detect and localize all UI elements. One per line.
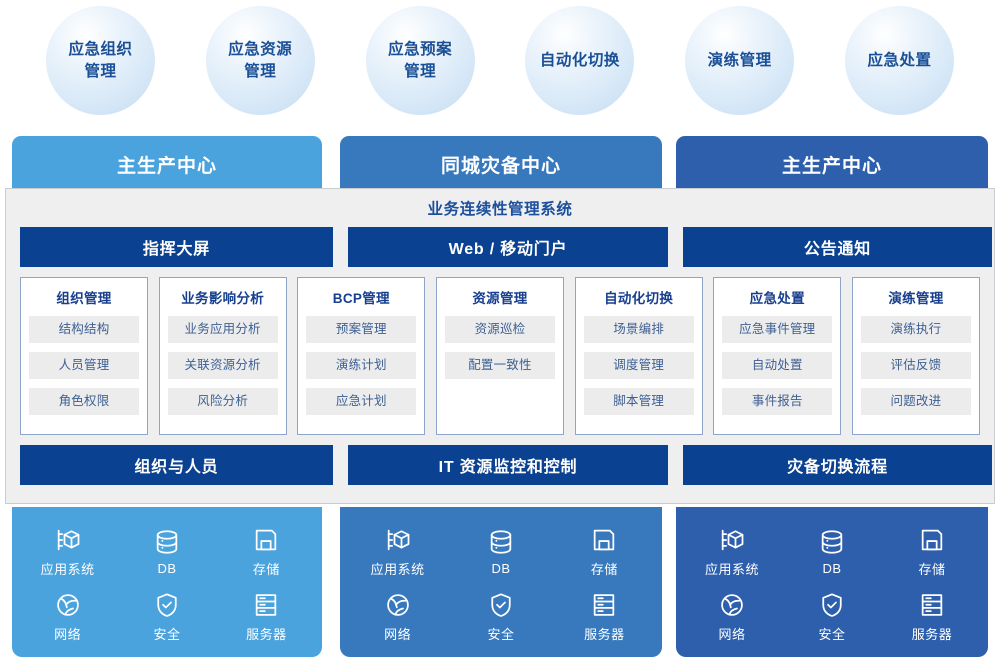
infra-item-database[interactable]: DB	[117, 526, 216, 578]
module-item[interactable]: 配置一致性	[445, 352, 555, 379]
module-item[interactable]: 角色权限	[29, 388, 139, 415]
module-card-title: 应急处置	[722, 287, 832, 307]
infra-item-label: 安全	[818, 624, 845, 643]
module-item[interactable]: 关联资源分析	[168, 352, 278, 379]
infra-item-label: 网络	[718, 624, 745, 643]
module-item[interactable]: 资源巡检	[445, 316, 555, 343]
module-card-title: BCP管理	[306, 287, 416, 307]
capability-bubble-label: 应急资源管理	[228, 39, 292, 82]
infra-item-application-system[interactable]: 应用系统	[346, 526, 449, 578]
capability-bar-label: 组织与人员	[134, 453, 218, 477]
module-card-org-management[interactable]: 组织管理 结构结构 人员管理 角色权限	[20, 277, 148, 435]
site-header-row: 主生产中心 同城灾备中心 主生产中心	[0, 136, 1000, 192]
site-header-label: 同城灾备中心	[441, 151, 561, 178]
infra-item-application-system[interactable]: 应用系统	[682, 526, 782, 578]
infra-item-label: 应用系统	[371, 559, 425, 578]
access-bar-label: 公告通知	[804, 235, 871, 259]
infrastructure-row: 应用系统 DB 存储 网络 安全 服务器 应用系统 DB	[0, 507, 1000, 657]
infra-item-storage[interactable]: 存储	[882, 526, 982, 578]
module-item[interactable]: 应急计划	[306, 388, 416, 415]
database-icon	[818, 528, 846, 556]
server-rack-icon	[918, 591, 946, 619]
security-shield-icon	[153, 591, 181, 619]
module-card-title: 资源管理	[445, 287, 555, 307]
capability-bar-label: 灾备切换流程	[787, 453, 888, 477]
infra-item-security[interactable]: 安全	[782, 591, 882, 643]
module-item[interactable]: 问题改进	[861, 388, 971, 415]
module-item[interactable]: 脚本管理	[584, 388, 694, 415]
capability-bubble-row: 应急组织管理 应急资源管理 应急预案管理 自动化切换 演练管理 应急处置	[0, 6, 1000, 124]
module-item[interactable]: 演练执行	[861, 316, 971, 343]
access-bar-command-screen[interactable]: 指挥大屏	[20, 227, 333, 267]
site-header-primary-production[interactable]: 主生产中心	[12, 136, 322, 192]
module-card-drill-management[interactable]: 演练管理 演练执行 评估反馈 问题改进	[852, 277, 980, 435]
infra-item-label: 服务器	[584, 624, 625, 643]
module-item[interactable]: 业务应用分析	[168, 316, 278, 343]
storage-icon	[590, 526, 618, 554]
module-card-resource-management[interactable]: 资源管理 资源巡检 配置一致性	[436, 277, 564, 435]
module-card-title: 组织管理	[29, 287, 139, 307]
capability-bar-org-and-people[interactable]: 组织与人员	[20, 445, 333, 485]
capability-bubble-label: 应急预案管理	[388, 39, 452, 82]
module-item[interactable]: 结构结构	[29, 316, 139, 343]
infra-item-label: 服务器	[246, 624, 287, 643]
server-rack-icon	[590, 591, 618, 619]
infrastructure-panel-primary-production: 应用系统 DB 存储 网络 安全 服务器	[12, 507, 322, 657]
module-card-title: 演练管理	[861, 287, 971, 307]
access-bar-row: 指挥大屏 Web / 移动门户 公告通知	[13, 227, 987, 267]
infra-item-storage[interactable]: 存储	[217, 526, 316, 578]
infra-item-label: 应用系统	[705, 559, 759, 578]
module-item[interactable]: 事件报告	[722, 388, 832, 415]
infra-item-label: 安全	[153, 624, 180, 643]
capability-bubble-label: 演练管理	[708, 50, 772, 71]
infra-item-application-system[interactable]: 应用系统	[18, 526, 117, 578]
site-header-label: 主生产中心	[117, 151, 217, 178]
module-card-title: 业务影响分析	[168, 287, 278, 307]
capability-bubble[interactable]: 应急预案管理	[366, 6, 475, 115]
capability-bar-row: 组织与人员 IT 资源监控和控制 灾备切换流程	[13, 445, 987, 485]
module-item[interactable]: 人员管理	[29, 352, 139, 379]
capability-bubble[interactable]: 应急处置	[845, 6, 954, 115]
storage-icon	[918, 526, 946, 554]
module-card-title: 自动化切换	[584, 287, 694, 307]
module-item[interactable]: 应急事件管理	[722, 316, 832, 343]
capability-bubble[interactable]: 应急资源管理	[206, 6, 315, 115]
infra-item-label: 安全	[487, 624, 514, 643]
infra-item-network[interactable]: 网络	[18, 591, 117, 643]
infra-item-label: 应用系统	[41, 559, 95, 578]
infra-item-database[interactable]: DB	[449, 526, 552, 578]
infra-item-label: DB	[157, 561, 176, 576]
page-title: 业务连续性管理系统	[6, 189, 994, 227]
site-header-label: 主生产中心	[782, 151, 882, 178]
database-icon	[487, 528, 515, 556]
access-bar-web-mobile-portal[interactable]: Web / 移动门户	[348, 227, 668, 267]
module-item[interactable]: 评估反馈	[861, 352, 971, 379]
infrastructure-panel-metro-dr: 应用系统 DB 存储 网络 安全 服务器	[340, 507, 662, 657]
capability-bar-label: IT 资源监控和控制	[439, 453, 578, 477]
capability-bubble[interactable]: 自动化切换	[525, 6, 634, 115]
module-card-row: 组织管理 结构结构 人员管理 角色权限 业务影响分析 业务应用分析 关联资源分析…	[20, 277, 980, 435]
network-icon	[384, 591, 412, 619]
capability-bubble-label: 应急组织管理	[68, 39, 132, 82]
bcm-system-panel: 业务连续性管理系统 指挥大屏 Web / 移动门户 公告通知 组织管理 结构结构…	[5, 188, 995, 504]
module-card-bcp-management[interactable]: BCP管理 预案管理 演练计划 应急计划	[297, 277, 425, 435]
capability-bubble[interactable]: 演练管理	[685, 6, 794, 115]
infra-item-label: DB	[491, 561, 510, 576]
infra-item-label: 存储	[591, 559, 618, 578]
infra-item-server[interactable]: 服务器	[553, 591, 656, 643]
capability-bar-dr-switch-process[interactable]: 灾备切换流程	[683, 445, 992, 485]
capability-bubble[interactable]: 应急组织管理	[46, 6, 155, 115]
network-icon	[54, 591, 82, 619]
application-system-icon	[718, 526, 746, 554]
module-item[interactable]: 调度管理	[584, 352, 694, 379]
application-system-icon	[54, 526, 82, 554]
application-system-icon	[384, 526, 412, 554]
infra-item-storage[interactable]: 存储	[553, 526, 656, 578]
infra-item-label: 存储	[918, 559, 945, 578]
site-header-remote-production[interactable]: 主生产中心	[676, 136, 988, 192]
storage-icon	[252, 526, 280, 554]
module-card-automated-switchover[interactable]: 自动化切换 场景编排 调度管理 脚本管理	[575, 277, 703, 435]
site-header-metro-dr[interactable]: 同城灾备中心	[340, 136, 662, 192]
infra-item-server[interactable]: 服务器	[882, 591, 982, 643]
network-icon	[718, 591, 746, 619]
infra-item-label: 网络	[384, 624, 411, 643]
infra-item-network[interactable]: 网络	[346, 591, 449, 643]
module-item[interactable]: 场景编排	[584, 316, 694, 343]
security-shield-icon	[487, 591, 515, 619]
infrastructure-panel-remote-production: 应用系统 DB 存储 网络 安全 服务器	[676, 507, 988, 657]
module-item[interactable]: 预案管理	[306, 316, 416, 343]
infra-item-security[interactable]: 安全	[117, 591, 216, 643]
capability-bar-it-resource-monitoring[interactable]: IT 资源监控和控制	[348, 445, 668, 485]
infra-item-security[interactable]: 安全	[449, 591, 552, 643]
server-rack-icon	[252, 591, 280, 619]
database-icon	[153, 528, 181, 556]
access-bar-announcement[interactable]: 公告通知	[683, 227, 992, 267]
infra-item-label: 服务器	[912, 624, 953, 643]
security-shield-icon	[818, 591, 846, 619]
access-bar-label: Web / 移动门户	[449, 235, 568, 259]
infra-item-label: 存储	[253, 559, 280, 578]
module-card-emergency-response[interactable]: 应急处置 应急事件管理 自动处置 事件报告	[713, 277, 841, 435]
module-item[interactable]: 自动处置	[722, 352, 832, 379]
access-bar-label: 指挥大屏	[143, 235, 210, 259]
infra-item-network[interactable]: 网络	[682, 591, 782, 643]
module-item[interactable]: 风险分析	[168, 388, 278, 415]
capability-bubble-label: 自动化切换	[540, 50, 620, 71]
capability-bubble-label: 应急处置	[867, 50, 931, 71]
infra-item-server[interactable]: 服务器	[217, 591, 316, 643]
infra-item-database[interactable]: DB	[782, 526, 882, 578]
module-card-business-impact-analysis[interactable]: 业务影响分析 业务应用分析 关联资源分析 风险分析	[159, 277, 287, 435]
module-item[interactable]: 演练计划	[306, 352, 416, 379]
infra-item-label: 网络	[54, 624, 81, 643]
infra-item-label: DB	[822, 561, 841, 576]
